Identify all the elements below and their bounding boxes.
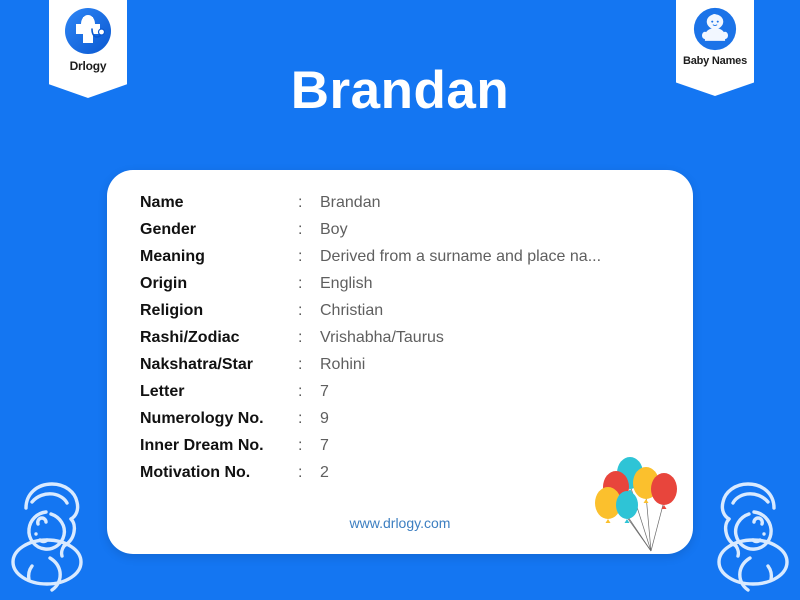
row-separator: : [298, 356, 320, 374]
table-row: Letter : 7 [140, 383, 660, 410]
table-row: Numerology No. : 9 [140, 410, 660, 437]
row-value: Derived from a surname and place na... [320, 248, 660, 266]
row-value: Christian [320, 302, 660, 320]
row-separator: : [298, 410, 320, 428]
table-row: Rashi/Zodiac : Vrishabha/Taurus [140, 329, 660, 356]
row-separator: : [298, 194, 320, 212]
table-row: Meaning : Derived from a surname and pla… [140, 248, 660, 275]
row-separator: : [298, 383, 320, 401]
row-label: Letter [140, 383, 298, 401]
mother-and-baby-outline-icon-left [2, 474, 106, 600]
row-separator: : [298, 221, 320, 239]
table-row: Inner Dream No. : 7 [140, 437, 660, 464]
table-row: Origin : English [140, 275, 660, 302]
row-label: Nakshatra/Star [140, 356, 298, 374]
row-value: Boy [320, 221, 660, 239]
row-label: Religion [140, 302, 298, 320]
mother-and-baby-outline-icon-right [694, 474, 798, 600]
table-row: Nakshatra/Star : Rohini [140, 356, 660, 383]
name-details-card: Name : Brandan Gender : Boy Meaning : De… [107, 170, 693, 554]
row-label: Origin [140, 275, 298, 293]
row-separator: : [298, 302, 320, 320]
table-row: Motivation No. : 2 [140, 464, 660, 491]
row-value: Rohini [320, 356, 660, 374]
row-separator: : [298, 275, 320, 293]
drlogy-medical-cross-doctor-icon [64, 7, 112, 55]
row-label: Inner Dream No. [140, 437, 298, 455]
row-value: 9 [320, 410, 660, 428]
table-row: Name : Brandan [140, 194, 660, 221]
row-value: Vrishabha/Taurus [320, 329, 660, 347]
page-title: Brandan [0, 62, 800, 120]
row-label: Name [140, 194, 298, 212]
balloons-illustration [594, 455, 689, 554]
row-separator: : [298, 464, 320, 482]
table-row: Religion : Christian [140, 302, 660, 329]
row-value: Brandan [320, 194, 660, 212]
row-label: Motivation No. [140, 464, 298, 482]
row-label: Gender [140, 221, 298, 239]
row-label: Numerology No. [140, 410, 298, 428]
row-value: English [320, 275, 660, 293]
row-separator: : [298, 437, 320, 455]
row-label: Rashi/Zodiac [140, 329, 298, 347]
badge-baby-names-inner: Baby Names [676, 0, 754, 67]
row-value: 7 [320, 383, 660, 401]
row-label: Meaning [140, 248, 298, 266]
table-row: Gender : Boy [140, 221, 660, 248]
name-details-table: Name : Brandan Gender : Boy Meaning : De… [140, 194, 660, 491]
row-separator: : [298, 248, 320, 266]
row-separator: : [298, 329, 320, 347]
row-value: 7 [320, 437, 660, 455]
baby-icon [693, 7, 737, 51]
